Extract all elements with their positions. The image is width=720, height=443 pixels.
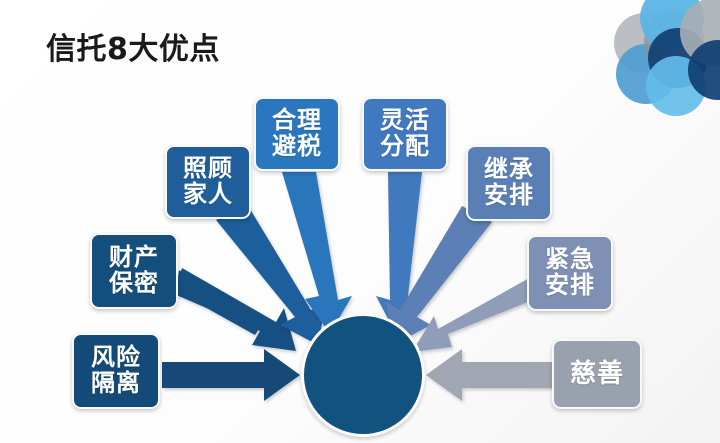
node-line: 避税 xyxy=(272,134,322,160)
node-line: 风险 xyxy=(91,345,141,371)
node-line: 照顾 xyxy=(183,156,233,182)
node-risk-isolation[interactable]: 风险 隔离 xyxy=(72,333,160,409)
arrow-charity xyxy=(426,349,562,401)
node-line: 继承 xyxy=(484,157,534,183)
node-line: 家人 xyxy=(183,182,233,208)
node-line: 安排 xyxy=(484,183,534,209)
node-flexible-allocation[interactable]: 灵活 分配 xyxy=(362,97,448,171)
node-line: 分配 xyxy=(380,134,430,160)
node-emergency-arrangement[interactable]: 紧急 安排 xyxy=(527,235,613,311)
arrow-risk-isolation xyxy=(162,349,300,401)
node-inheritance-arrangement[interactable]: 继承 安排 xyxy=(466,145,552,221)
node-line: 慈善 xyxy=(570,360,624,388)
node-line: 紧急 xyxy=(545,247,595,273)
node-tax-avoidance[interactable]: 合理 避税 xyxy=(254,97,340,171)
node-family-care[interactable]: 照顾 家人 xyxy=(165,145,251,219)
node-line: 保密 xyxy=(109,271,159,297)
node-asset-confidentiality[interactable]: 财产 保密 xyxy=(90,233,178,309)
node-line: 合理 xyxy=(272,108,322,134)
node-line: 隔离 xyxy=(91,371,141,397)
node-line: 财产 xyxy=(109,245,159,271)
center-hub xyxy=(301,313,425,437)
node-line: 安排 xyxy=(545,273,595,299)
node-line: 灵活 xyxy=(380,108,430,134)
slide-canvas: 信托8大优点 xyxy=(0,0,720,443)
node-charity[interactable]: 慈善 xyxy=(552,339,642,409)
